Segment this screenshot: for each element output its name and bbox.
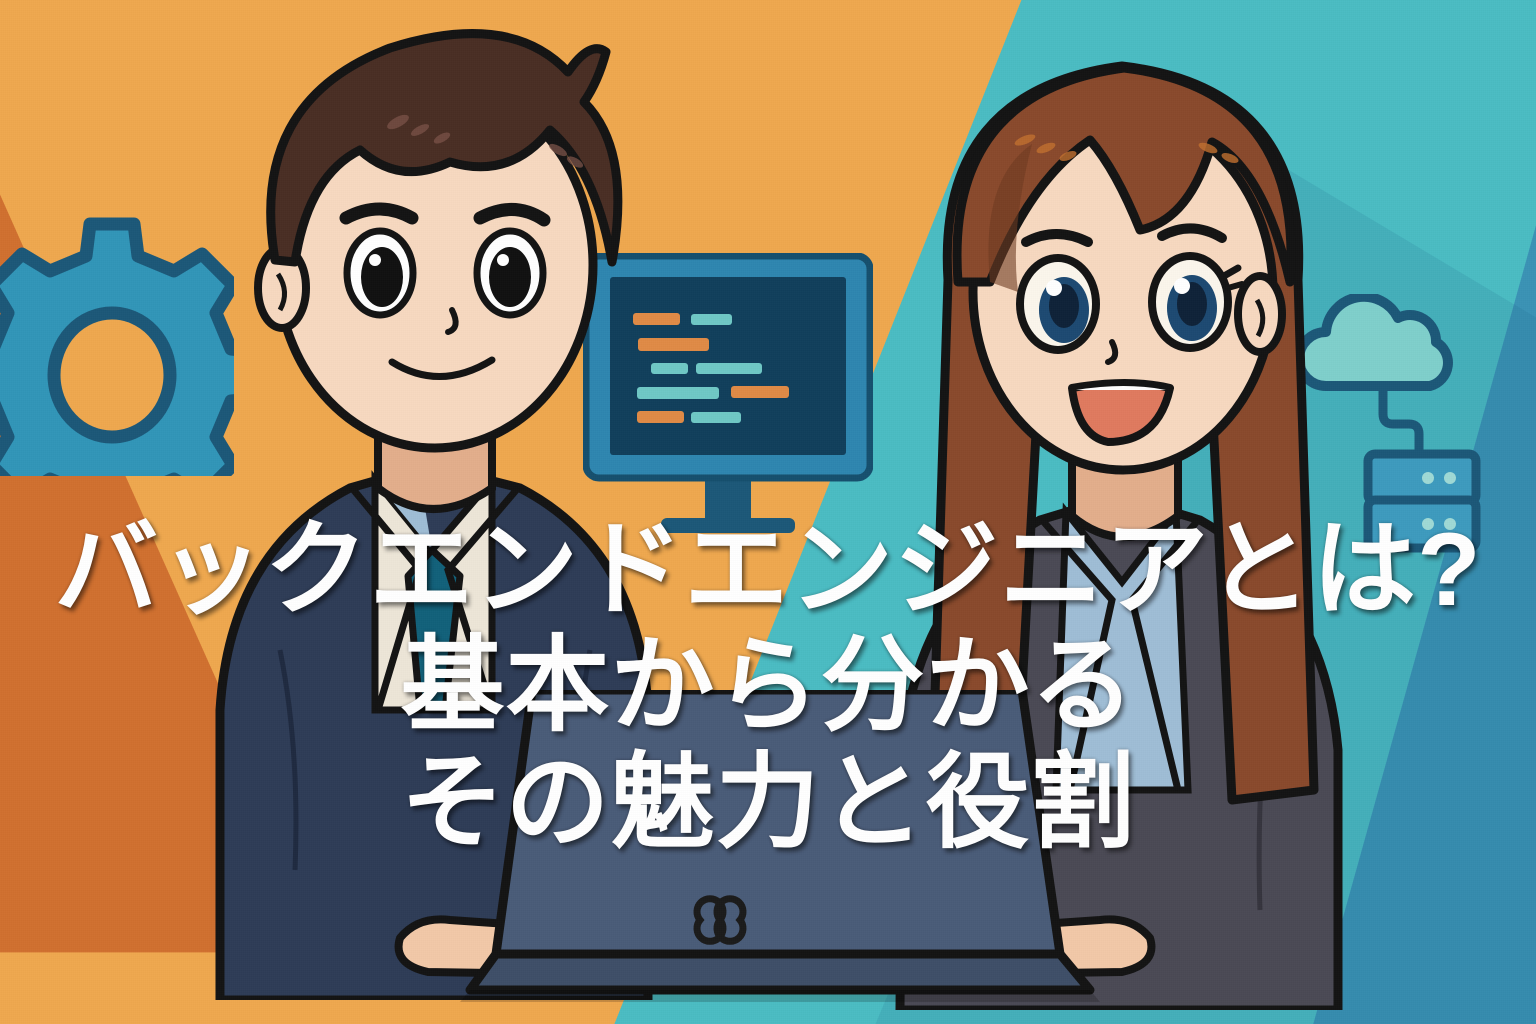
male-head: [258, 34, 618, 448]
female-head: [957, 68, 1291, 470]
thumbnail-image: バックエンドエンジニアとは? 基本から分かる その魅力と役割: [0, 0, 1536, 1024]
laptop: [300, 690, 1250, 1024]
